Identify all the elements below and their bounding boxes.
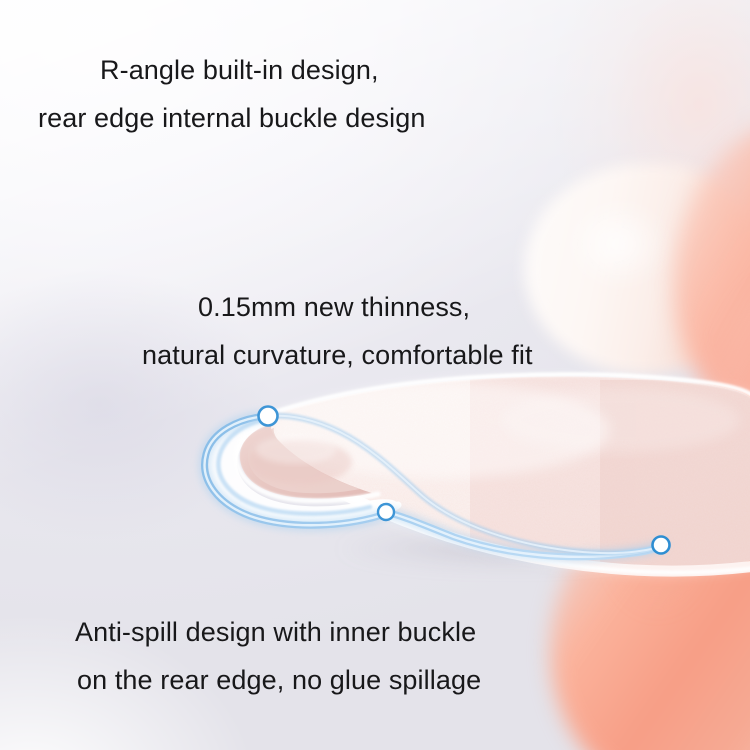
caption-bottom-line1: Anti-spill design with inner buckle	[75, 608, 481, 656]
caption-bottom: Anti-spill design with inner buckle on t…	[75, 608, 481, 704]
caption-middle-line2: natural curvature, comfortable fit	[142, 331, 533, 379]
caption-top-line1: R-angle built-in design,	[100, 46, 425, 94]
blurred-fingertip-upper-right	[524, 150, 750, 410]
product-feature-image: R-angle built-in design, rear edge inter…	[0, 0, 750, 750]
fingertip-highlight	[554, 196, 694, 316]
caption-top-line2: rear edge internal buckle design	[38, 94, 425, 142]
caption-middle: 0.15mm new thinness, natural curvature, …	[198, 283, 533, 379]
product-drop-shadow	[250, 528, 720, 580]
caption-top: R-angle built-in design, rear edge inter…	[100, 46, 425, 142]
caption-bottom-line2: on the rear edge, no glue spillage	[77, 656, 481, 704]
caption-middle-line1: 0.15mm new thinness,	[198, 283, 533, 331]
